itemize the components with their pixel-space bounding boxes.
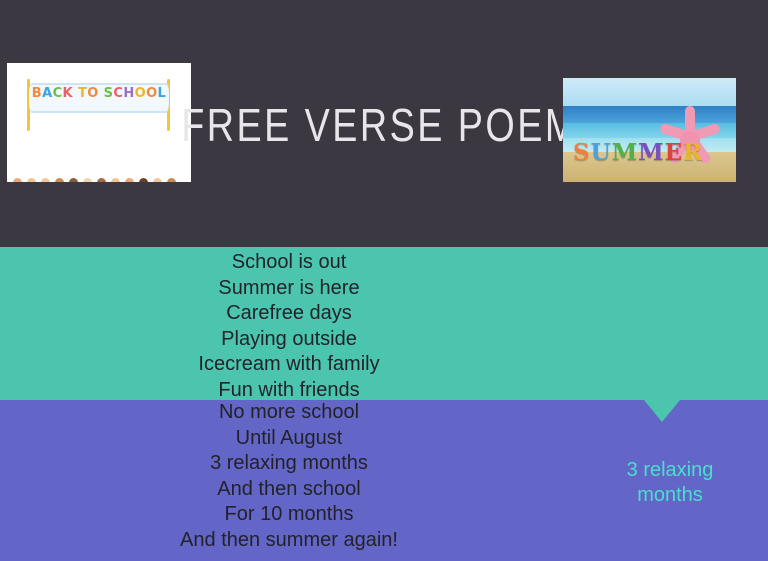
poem-line: Icecream with family (0, 352, 578, 378)
callout-months-line-2: months (590, 483, 750, 508)
poem-line: No more school (0, 400, 578, 426)
callout-months-label: 3 relaxing months (590, 458, 750, 508)
callout-months-line-1: 3 relaxing (590, 458, 750, 483)
school-children-group (11, 116, 187, 178)
poem-line: Summer is here (0, 276, 578, 302)
poem-line: Playing outside (0, 327, 578, 353)
poem-line: And then summer again! (0, 528, 578, 554)
poem-line: Carefree days (0, 301, 578, 327)
poem-line: 3 relaxing months (0, 451, 578, 477)
school-banner: BACK TO SCHOOL (21, 79, 177, 113)
summer-letters: SUMMER (573, 139, 703, 166)
poem-panel-green: School is out Summer is here Carefree da… (0, 247, 768, 400)
poem-stanza-one: School is out Summer is here Carefree da… (0, 247, 578, 403)
poem-line: For 10 months (0, 502, 578, 528)
poem-stanza-two: No more school Until August 3 relaxing m… (0, 400, 578, 553)
callout-pointer-icon (644, 400, 680, 422)
poem-line: Until August (0, 426, 578, 452)
banner-text: BACK TO SCHOOL (31, 86, 167, 102)
poem-line: School is out (0, 250, 578, 276)
slide-canvas: BACK TO SCHOOL FREE VERSE POEM (0, 0, 768, 561)
poem-line: And then school (0, 477, 578, 503)
back-to-school-image: BACK TO SCHOOL (7, 63, 191, 182)
summer-beach-image: SUMMER (563, 78, 736, 182)
page-title: FREE VERSE POEM (232, 95, 527, 155)
slide-header: BACK TO SCHOOL FREE VERSE POEM (0, 0, 768, 247)
